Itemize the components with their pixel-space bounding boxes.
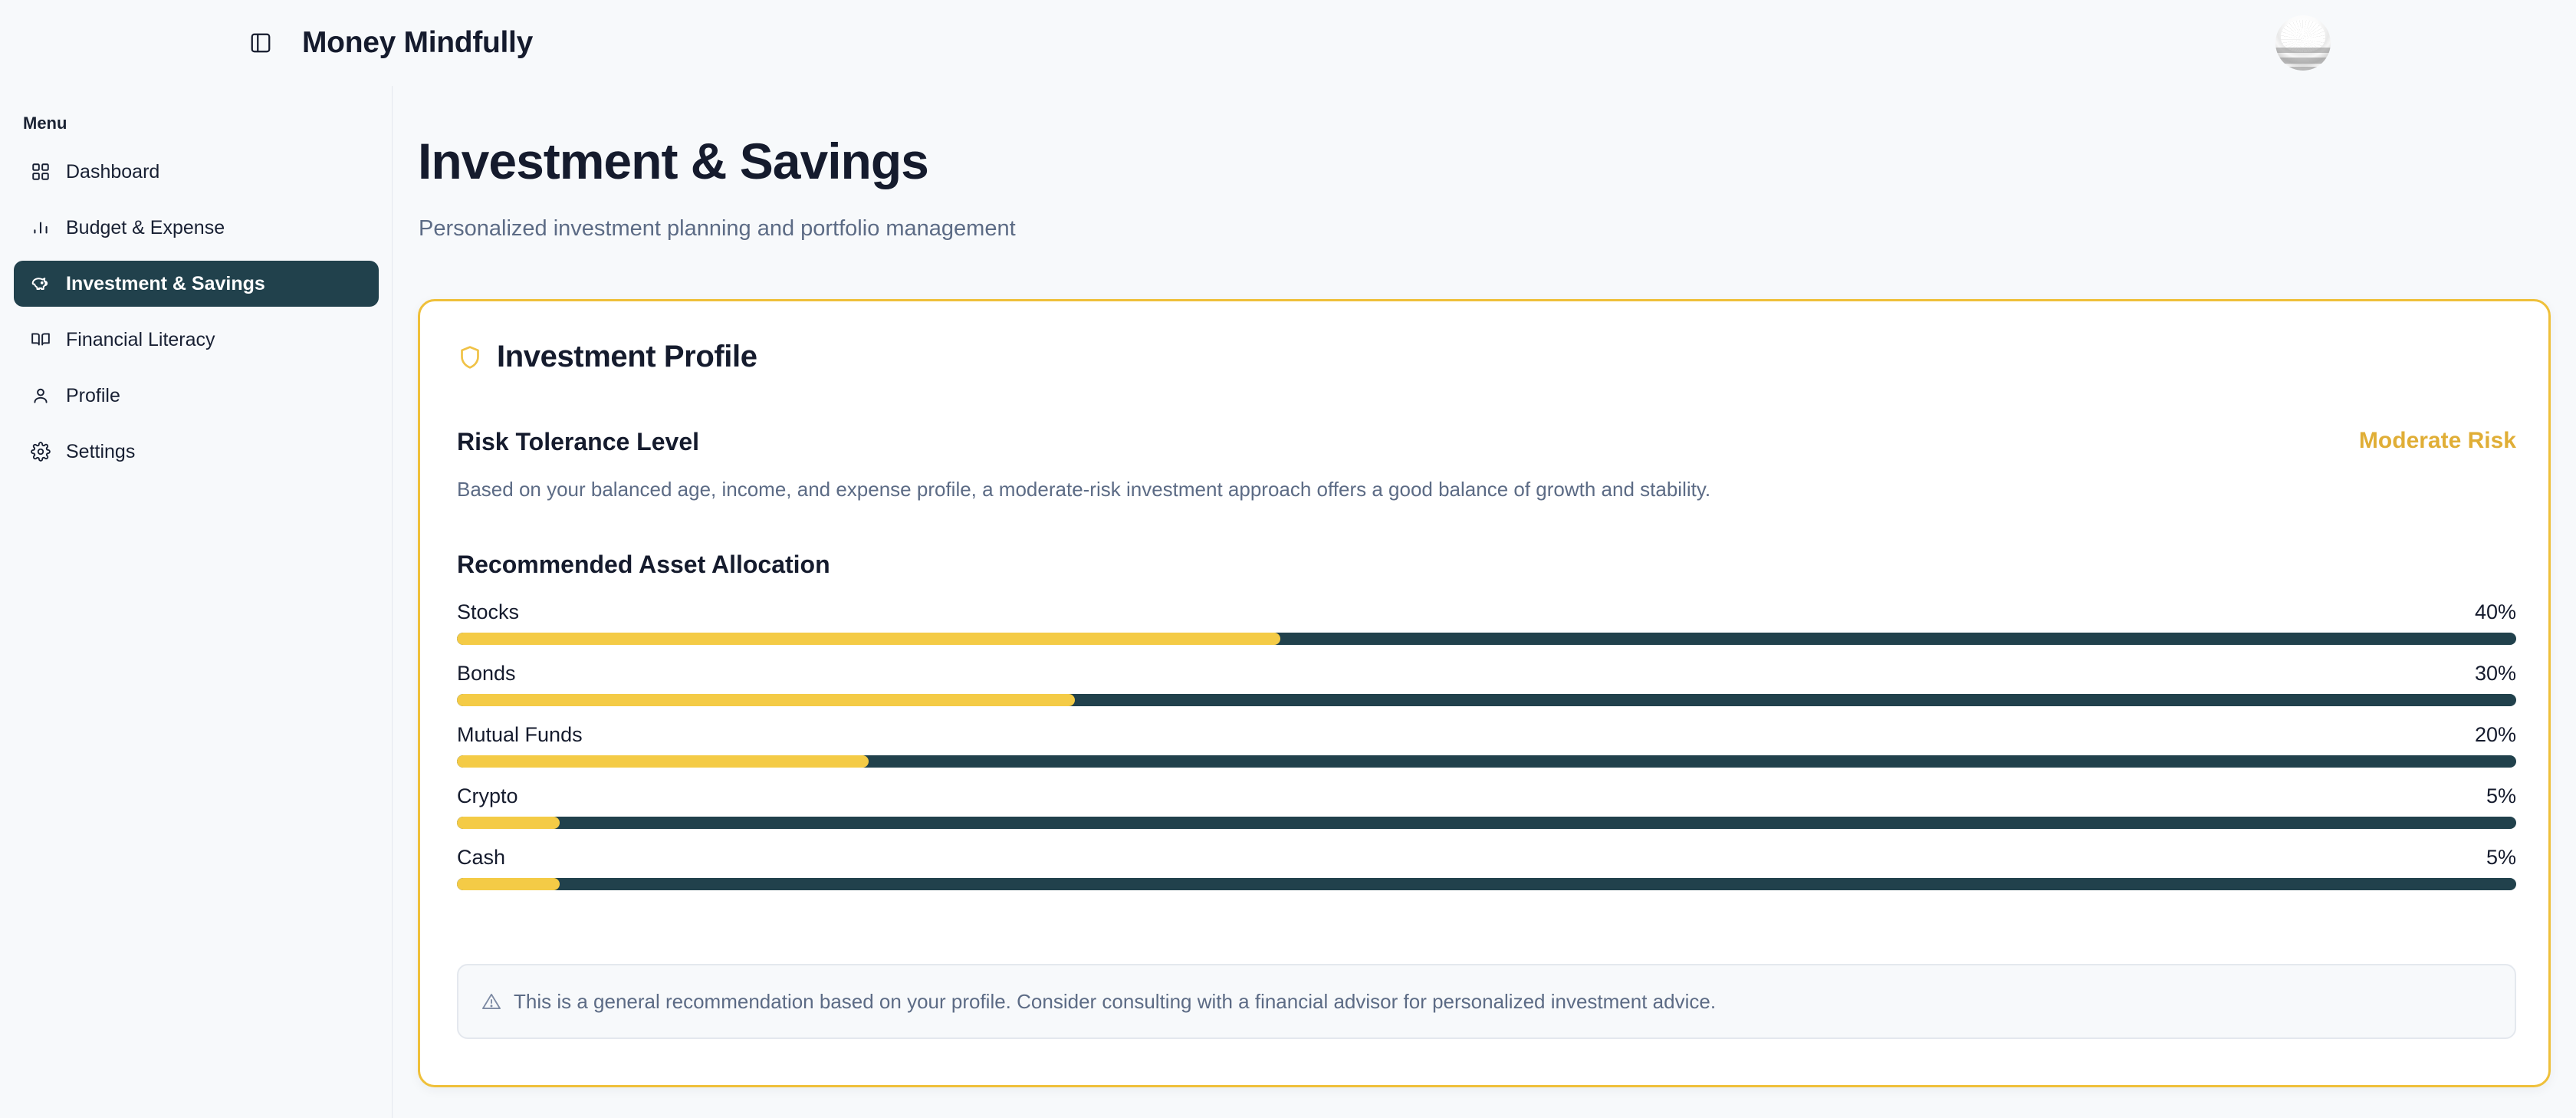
allocation-row: Mutual Funds 20% [457,723,2516,768]
sidebar-item-investment-savings[interactable]: Investment & Savings [14,261,379,307]
allocation-bar-fill [457,755,869,768]
allocation-title: Recommended Asset Allocation [457,551,830,579]
user-icon [28,383,54,409]
disclaimer-note: This is a general recommendation based o… [457,964,2516,1039]
allocation-row: Crypto 5% [457,784,2516,829]
page-title: Investment & Savings [418,132,928,190]
disclaimer-text: This is a general recommendation based o… [514,990,1716,1014]
allocation-list: Stocks 40% Bonds 30% Mutual Funds [457,600,2516,890]
allocation-name: Mutual Funds [457,723,583,747]
main-content: Investment & Savings Personalized invest… [393,86,2576,1118]
shield-icon [457,344,483,370]
allocation-name: Stocks [457,600,519,624]
allocation-bar-track [457,694,2516,706]
allocation-percent: 30% [2475,662,2516,686]
allocation-bar-fill [457,633,1280,645]
avatar-band [2275,58,2331,64]
risk-tolerance-row: Risk Tolerance Level Moderate Risk [457,428,2516,456]
open-book-icon [28,327,54,353]
piggy-bank-icon [28,271,54,297]
allocation-bar-track [457,633,2516,645]
sidebar-item-financial-literacy[interactable]: Financial Literacy [14,317,379,363]
risk-tolerance-label: Risk Tolerance Level [457,428,699,456]
avatar-band [2275,48,2331,53]
sidebar-item-settings[interactable]: Settings [14,429,379,475]
allocation-bar-fill [457,878,560,890]
avatar-band [2275,67,2331,71]
allocation-percent: 5% [2486,784,2516,808]
bar-chart-icon [28,215,54,241]
allocation-name: Bonds [457,662,516,686]
status-badge: Moderate Risk [2359,428,2516,454]
allocation-row: Cash 5% [457,846,2516,890]
card-title: Investment Profile [497,340,757,374]
sidebar-item-label: Budget & Expense [66,219,225,238]
page-subtitle: Personalized investment planning and por… [419,216,1016,242]
sidebar-toggle-icon[interactable] [244,26,278,60]
app-title: Money Mindfully [302,26,533,60]
allocation-name: Cash [457,846,505,870]
sidebar-item-budget-expense[interactable]: Budget & Expense [14,205,379,251]
risk-description: Based on your balanced age, income, and … [457,478,1710,501]
top-bar: Money Mindfully [0,0,2576,86]
allocation-bar-track [457,878,2516,890]
sidebar-item-label: Dashboard [66,163,159,182]
allocation-row: Bonds 30% [457,662,2516,706]
allocation-percent: 5% [2486,846,2516,870]
allocation-percent: 20% [2475,723,2516,747]
allocation-bar-fill [457,694,1075,706]
allocation-bar-track [457,817,2516,829]
investment-profile-card: Investment Profile Risk Tolerance Level … [418,299,2551,1087]
allocation-bar-fill [457,817,560,829]
allocation-row: Stocks 40% [457,600,2516,645]
gear-icon [28,439,54,465]
allocation-percent: 40% [2475,600,2516,624]
sidebar-item-label: Profile [66,386,120,406]
grid-icon [28,159,54,185]
sidebar-item-label: Settings [66,442,135,462]
avatar[interactable] [2275,15,2331,71]
menu-heading: Menu [23,113,67,133]
sidebar-item-label: Investment & Savings [66,275,265,294]
sidebar-item-profile[interactable]: Profile [14,373,379,419]
sidebar-nav: Dashboard Budget & Expense Investmen [14,149,379,485]
warning-triangle-icon [481,991,501,1011]
allocation-name: Crypto [457,784,518,808]
allocation-bar-track [457,755,2516,768]
sidebar-item-dashboard[interactable]: Dashboard [14,149,379,195]
sidebar-item-label: Financial Literacy [66,330,215,350]
card-header: Investment Profile [457,340,757,374]
sidebar: Menu Dashboard Budget & Exp [0,86,393,1118]
